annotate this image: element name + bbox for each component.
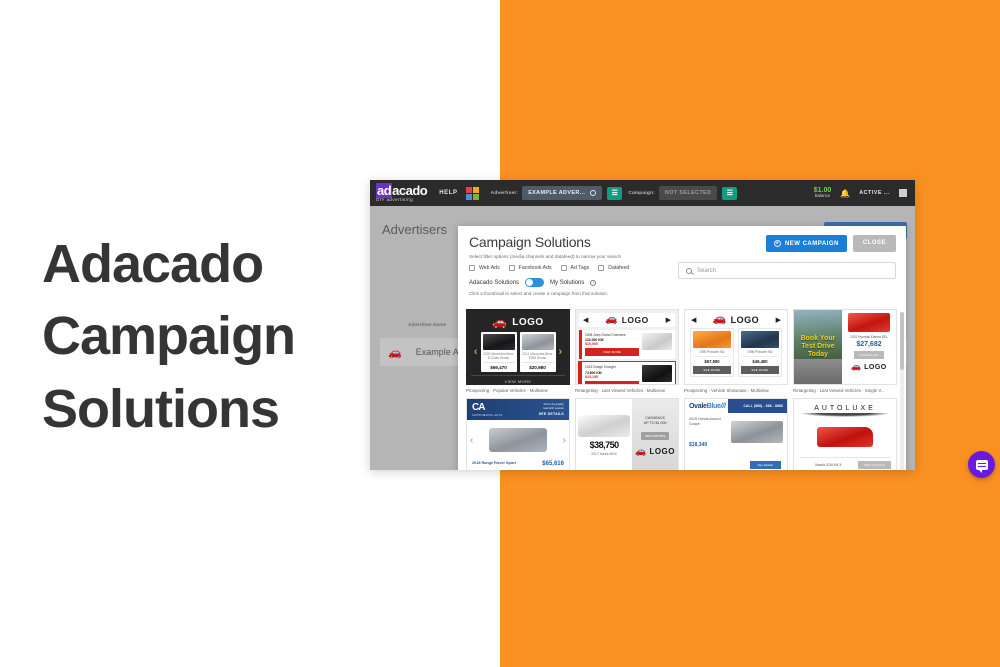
car-icon: 🚗 [388,346,402,359]
solution-thumbnail[interactable]: ◀ 🚗 LOGO ▶ 1990 Porsche 911 [684,309,788,385]
solution-caption: Retargeting · Last Viewed Vehicles · Sin… [793,388,897,393]
modal-actions: + NEW CAMPAIGN CLOSE [766,235,896,252]
solutions-grid-wrapper[interactable]: 🚗 LOGO ‹ 2020 Mercedes-Benz E-Class Seda… [466,309,898,470]
filter-label: Web Ads [479,265,500,271]
vehicle-name: 2017 Acura MDX [591,452,617,457]
vehicle-price: $20,980 [522,362,554,370]
solutions-toggle[interactable] [525,278,544,287]
solution-card-popular-vehicles-multiview[interactable]: 🚗 LOGO ‹ 2020 Mercedes-Benz E-Class Seda… [466,309,570,393]
vehicle-name: 2018 Range Rover Sport [472,461,516,466]
filter-facebook-ads[interactable]: Facebook Ads [509,265,552,271]
solution-card-last-viewed-single-view[interactable]: Book Your Test Drive Today 2022 Hyundai … [793,309,897,393]
modal-hint: Click a thumbnail to select and create a… [469,291,895,296]
offer-line-2: UP TO $1,000 [644,421,667,425]
hamburger-menu-icon[interactable] [899,189,907,197]
view-more-button[interactable]: VIEW MORE [585,348,639,356]
search-icon [686,268,692,274]
vehicle-name: 2020 Mercedes-Benz E-Class Sedan [483,352,515,360]
solution-thumbnail[interactable]: CA CONTINENTAL AUTO Driven by quality, l… [466,398,570,470]
advertiser-name-column-header: Advertiser Name [408,323,446,328]
advertiser-selector[interactable]: EXAMPLE ADVER... [522,186,602,200]
prev-arrow-icon[interactable]: ‹ [470,435,473,446]
car-icon: 🚗 [851,363,861,371]
vehicle-name: Mazda 2018 MX-5 [799,463,858,467]
vehicle-tile[interactable]: 1990 Porsche 911 $67,500 SEE MORE [690,328,734,377]
adacado-logo[interactable]: adacado DIY advertising [376,184,427,203]
balance-display: $1.00 Balance [814,187,832,199]
vehicle-price: $27,682 [856,341,881,348]
vehicle-tile[interactable]: 2011 Mercedes-Benz E350 Sedan $20,980 [520,332,556,372]
vehicle-photo [741,331,779,348]
filter-datafeed[interactable]: Datafeed [598,265,629,271]
vehicle-photo [817,427,873,447]
vehicle-photo [489,428,547,452]
test-drive-banner: Book Your Test Drive Today [794,310,842,384]
app-topbar: adacado DIY advertising HELP Advertiser:… [370,180,915,206]
modal-scrollbar[interactable] [900,312,904,470]
solution-card-autoluxe[interactable]: AUTOLUXE Mazda 2018 MX-5 SEE DETAILS [793,398,897,470]
solution-card-continental-auto[interactable]: CA CONTINENTAL AUTO Driven by quality, l… [466,398,570,470]
solution-thumbnail[interactable]: AUTOLUXE Mazda 2018 MX-5 SEE DETAILS [793,398,897,470]
apps-grid-icon[interactable] [466,187,479,200]
logo-tagline: DIY advertising [376,198,427,203]
solution-thumbnail[interactable]: $38,750 2017 Acura MDX CASHBACK UP TO $1… [575,398,679,470]
brand-logo-text: LOGO [512,317,543,328]
brand-logo-text: LOGO [864,364,887,371]
solution-thumbnail[interactable]: ◀ 🚗 LOGO ▶ 2008 Jeep Grand Cherokee [575,309,679,385]
prev-arrow-icon[interactable]: ◀ [583,316,588,324]
vehicle-photo [578,415,630,437]
view-more-button[interactable]: VIEW MORE [585,381,639,385]
gear-icon[interactable] [590,190,596,196]
vehicle-name: 2015 Honda Accord Coupe [689,417,731,428]
brand-logo-text: LOGO [731,315,760,325]
solution-thumbnail[interactable]: OvaleBlue/// CALL (888) - 888 - 8888 201… [684,398,788,470]
switch-advertiser-icon[interactable]: ☰ [607,187,622,200]
see-details-button[interactable]: SEE DETAILS [858,461,891,469]
vehicle-price: $10,500 [585,342,639,346]
vehicle-price: $65,616 [542,461,564,467]
vehicle-price: $67,500 [693,356,731,364]
view-inventory-button[interactable]: view inventory [641,432,669,440]
advertisers-page: Advertisers + NEW ADVERTISER Advertiser … [370,206,915,470]
car-icon: 🚗 [492,316,507,328]
brand-logo: 🚗 LOGO [635,447,675,456]
filter-label: Datafeed [608,265,629,271]
new-campaign-label: NEW CAMPAIGN [785,241,839,247]
campaign-label: Campaign: [628,191,655,196]
campaign-value: NOT SELECTED [665,190,711,196]
solution-card-cashback-offer[interactable]: $38,750 2017 Acura MDX CASHBACK UP TO $1… [575,398,679,470]
solution-thumbnail[interactable]: Book Your Test Drive Today 2022 Hyundai … [793,309,897,385]
vehicle-photo [642,333,672,350]
checkbox-icon[interactable] [598,265,604,271]
modal-header: Campaign Solutions + NEW CAMPAIGN CLOSE … [458,226,906,296]
checkbox-icon[interactable] [561,265,567,271]
see-details-button[interactable]: See Details [750,461,781,469]
next-arrow-icon[interactable]: › [563,435,566,446]
banner-line-3: Today [808,351,828,359]
logo-part2: acado [392,183,427,198]
campaign-selector[interactable]: NOT SELECTED [659,186,717,200]
logo-part1: ad [376,183,392,198]
filter-web-ads[interactable]: Web Ads [469,265,500,271]
brand-logo-text: AUTOLUXE [799,405,891,412]
notification-bell-icon[interactable]: 🔔 [840,189,850,198]
vehicle-photo [483,334,515,350]
checkbox-icon[interactable] [509,265,515,271]
solution-caption: Prospecting · Vehicle Showcase · Multivi… [684,388,788,393]
find-more-info-button[interactable]: Find More Info [854,351,885,359]
plus-icon: + [774,240,781,247]
car-icon: 🚗 [635,447,646,456]
filter-ad-tags[interactable]: Ad Tags [561,265,590,271]
view-more-label[interactable]: VIEW MORE [471,375,565,384]
chat-launcher-button[interactable] [968,451,995,478]
filter-label: Facebook Ads [519,265,552,271]
vehicle-tile[interactable]: 2020 Mercedes-Benz E-Class Sedan $69,470 [481,332,517,372]
brand-part-2: Blue [707,403,721,410]
chat-bubble-icon [976,460,988,470]
vehicle-price: $38,750 [590,440,619,450]
search-placeholder: Search [697,268,716,274]
new-campaign-button[interactable]: + NEW CAMPAIGN [766,235,847,252]
banner-line-1: Book Your [801,335,836,343]
info-icon[interactable]: i [590,280,596,286]
solutions-grid: 🚗 LOGO ‹ 2020 Mercedes-Benz E-Class Seda… [466,309,898,470]
vehicle-photo [693,331,731,348]
vehicle-name: 2015 Dodge Charger [585,365,639,369]
banner-line-2: Test Drive [801,343,834,351]
vehicle-photo [848,313,890,332]
vehicle-name: 1990 Porsche 911 [693,350,731,354]
next-arrow-icon[interactable]: ▶ [776,316,781,324]
tagline-line-2: lead with passion [543,407,564,410]
status-badge[interactable]: ACTIVE ... [859,190,890,196]
vehicle-photo [522,334,554,350]
solutions-toggle-row: Adacado Solutions My Solutions i [469,278,895,287]
brand-logo-text: LOGO [622,315,649,325]
adacado-solutions-label: Adacado Solutions [469,280,519,286]
help-link[interactable]: HELP [439,190,457,196]
solution-card-vehicle-showcase-multiview[interactable]: ◀ 🚗 LOGO ▶ 1990 Porsche 911 [684,309,788,393]
brand-subtitle: CONTINENTAL AUTO [472,414,503,417]
solution-card-ovaleblue[interactable]: OvaleBlue/// CALL (888) - 888 - 8888 201… [684,398,788,470]
orange-block-top [500,0,1000,200]
switch-campaign-icon[interactable]: ☰ [722,187,737,200]
vehicle-name: 2022 Hyundai Elantra SEL [850,335,888,339]
campaign-solutions-modal: Campaign Solutions + NEW CAMPAIGN CLOSE … [458,226,906,470]
vehicle-price: $23,195 [585,375,639,379]
filter-label: Ad Tags [571,265,590,271]
solution-card-last-viewed-vehicles-multiview[interactable]: ◀ 🚗 LOGO ▶ 2008 Jeep Grand Cherokee [575,309,679,393]
app-screenshot: adacado DIY advertising HELP Advertiser:… [370,180,915,470]
modal-subtitle: Select filter options (media channels an… [469,254,895,259]
prev-arrow-icon[interactable]: ◀ [691,316,696,324]
see-more-button[interactable]: SEE MORE [693,366,731,374]
vehicle-tile[interactable]: 1996 Porsche 911 $49,400 SEE MORE [738,328,782,377]
tagline-line-1: Driven by quality, [544,403,564,406]
car-icon: 🚗 [605,315,617,325]
brand-logo: 🚗 LOGO [851,363,887,371]
prev-arrow-icon[interactable]: ‹ [474,346,478,358]
my-solutions-label: My Solutions [550,280,584,286]
solution-caption: Retargeting · Last Viewed Vehicles · Mul… [575,388,679,393]
vehicle-price: $69,470 [483,362,515,370]
see-more-button[interactable]: SEE MORE [741,366,779,374]
offer-line-1: CASHBACK [645,416,665,420]
vehicle-photo [731,421,783,443]
vehicle-list-item[interactable]: 2008 Jeep Grand Cherokee 132,000 KM $10,… [579,330,675,359]
vehicle-list-item[interactable]: 2015 Dodge Charger 74,600 KM $23,195 VIE… [579,362,675,385]
solution-thumbnail[interactable]: 🚗 LOGO ‹ 2020 Mercedes-Benz E-Class Seda… [466,309,570,385]
advertisers-page-title: Advertisers [382,222,447,237]
solution-caption: Prospecting · Popular Vehicles · Multivi… [466,388,570,393]
brand-logo-text: CA [472,403,503,413]
brand-part-1: Ovale [689,403,707,410]
vehicle-name: 1996 Porsche 911 [741,350,779,354]
phone-number[interactable]: CALL (888) - 888 - 8888 [744,404,783,408]
vehicle-price: $49,400 [741,356,779,364]
balance-label: Balance [814,194,832,199]
advertiser-label: Advertiser: [491,191,519,196]
checkbox-icon[interactable] [469,265,475,271]
search-input[interactable]: Search [678,262,896,279]
next-arrow-icon[interactable]: › [559,346,563,358]
scrollbar-thumb[interactable] [900,312,904,370]
see-details-button[interactable]: SEE DETAILS [539,412,564,416]
brand-logo-text: LOGO [649,447,675,456]
car-icon: 🚗 [713,314,727,325]
advertiser-value: EXAMPLE ADVER... [528,190,585,196]
vehicle-photo [642,365,672,382]
vehicle-price: $18,349 [689,442,731,448]
close-button[interactable]: CLOSE [853,235,896,252]
vehicle-name: 2008 Jeep Grand Cherokee [585,333,639,337]
vehicle-name: 2011 Mercedes-Benz E350 Sedan [522,352,554,360]
next-arrow-icon[interactable]: ▶ [666,316,671,324]
